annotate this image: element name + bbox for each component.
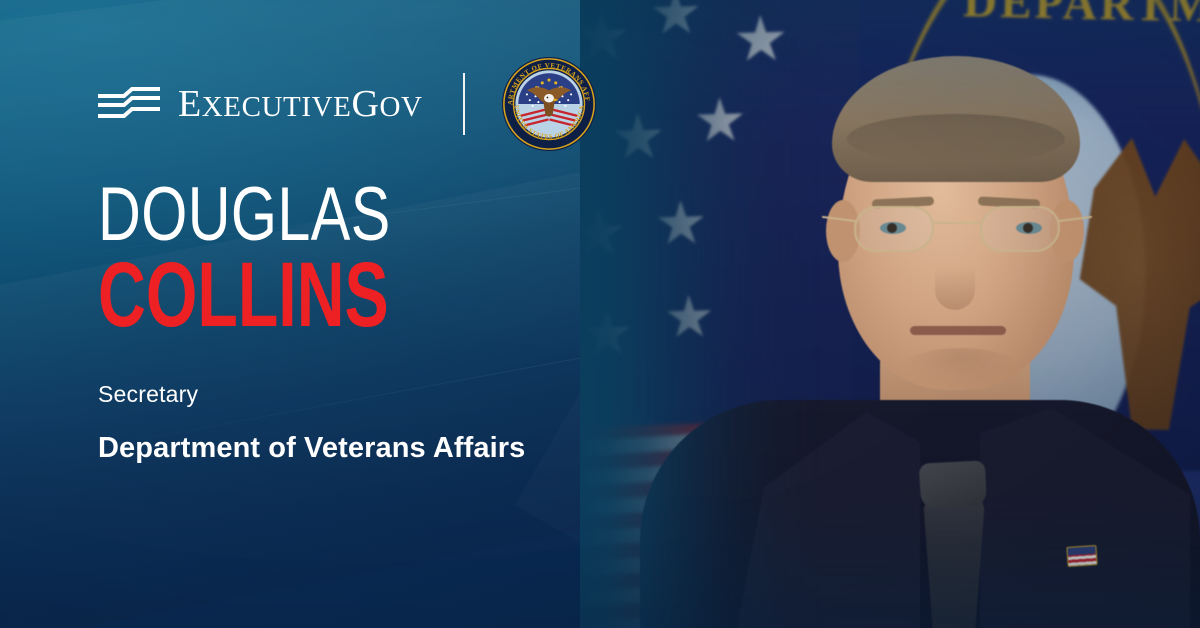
person-info-block: Douglas Collins Secretary Department of … (98, 182, 618, 465)
wordmark-cap-g: G (352, 85, 380, 123)
executivegov-leadership-card: DEPARTM (0, 0, 1200, 628)
va-seal-icon: DEPARTMENT OF VETERANS AFFAIRS UNITED ST… (501, 56, 597, 152)
wordmark-ov: OV (379, 93, 422, 122)
executivegov-wordmark: EXECUTIVEGOV (178, 85, 423, 123)
executivegov-logo[interactable]: EXECUTIVEGOV (98, 85, 423, 123)
person-first-name: Douglas (98, 182, 504, 247)
person-organization: Department of Veterans Affairs (98, 432, 618, 465)
executivegov-wave-mark-icon (98, 85, 160, 123)
person-role: Secretary (98, 381, 618, 408)
person-last-name: Collins (98, 257, 472, 334)
header-divider (463, 73, 465, 135)
wordmark-xecutive: XECUTIVE (202, 93, 352, 122)
wordmark-cap-e: E (178, 85, 202, 123)
card-header: EXECUTIVEGOV (98, 56, 597, 152)
